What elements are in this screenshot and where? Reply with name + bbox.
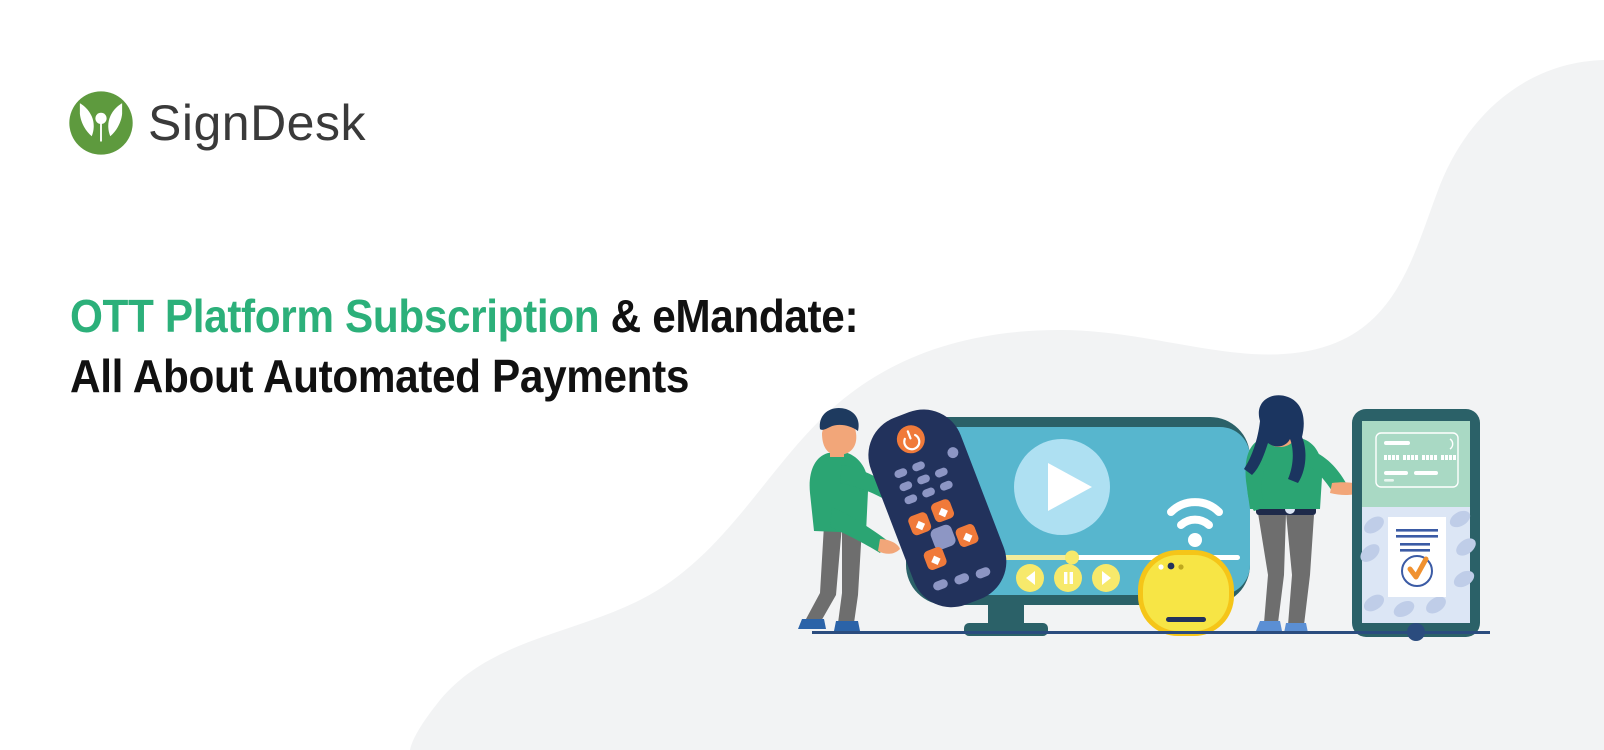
woman-character — [1244, 395, 1366, 633]
pause-button — [1054, 564, 1082, 592]
signdesk-pen-nib-leaf-logo-icon — [68, 90, 134, 156]
headline-line-1: OTT Platform Subscription & eMandate: — [70, 286, 926, 346]
hero-illustration — [780, 395, 1520, 650]
ground-line — [812, 631, 1490, 634]
progress-handle — [1065, 551, 1079, 565]
pause-icon-right — [1070, 572, 1073, 584]
headline-rest-text: & eMandate: — [599, 290, 858, 342]
signed-document — [1388, 517, 1446, 597]
page-title: OTT Platform Subscription & eMandate: Al… — [70, 286, 1000, 406]
player-controls — [1016, 564, 1120, 592]
headline-accent-text: OTT Platform Subscription — [70, 290, 599, 342]
smartphone[interactable] — [1352, 409, 1480, 641]
smart-speaker — [1138, 550, 1234, 636]
brand-logo[interactable]: SignDesk — [68, 90, 366, 156]
brand-wordmark: SignDesk — [148, 98, 366, 148]
hero-banner: SignDesk OTT Platform Subscription & eMa… — [0, 0, 1604, 750]
pause-icon-left — [1064, 572, 1067, 584]
speaker-bar — [1166, 617, 1206, 622]
